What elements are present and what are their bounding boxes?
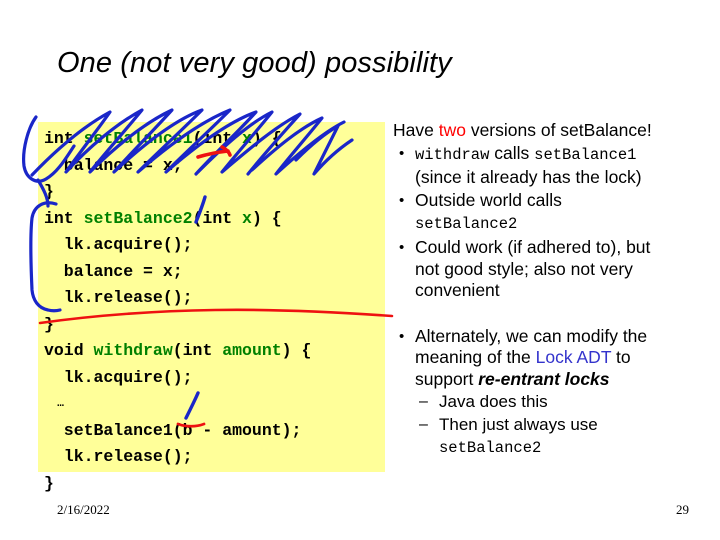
sub-bullet-body: Java does this	[439, 391, 711, 413]
code-line: lk.acquire();	[44, 365, 385, 392]
bullet-text-segment: Outside world calls	[415, 190, 562, 210]
code-block: int setBalance1(int x) { balance = x;}in…	[38, 122, 385, 472]
bullet-text-segment: Alternately, we can modify the	[415, 326, 647, 346]
bullet-text-segment: setBalance2	[415, 215, 517, 233]
code-text: }	[44, 182, 54, 201]
bullet-text-segment: Could work (if adhered to), but	[415, 237, 650, 257]
bullet-text-line: (since it already has the lock)	[415, 167, 711, 189]
bullet-body: Could work (if adhered to), butnot good …	[415, 237, 711, 302]
lead-statement: Have two versions of setBalance!	[393, 120, 711, 141]
code-text: int	[44, 209, 84, 228]
sub-list-item: –Then just always usesetBalance2	[393, 414, 711, 459]
bullet-text-line: meaning of the Lock ADT to	[415, 347, 711, 369]
code-line: setBalance1(b - amount);	[44, 418, 385, 445]
bullet-text-line: Then just always use	[439, 414, 711, 436]
code-text: balance = x;	[44, 156, 183, 175]
code-line: lk.release();	[44, 444, 385, 471]
code-identifier: amount	[222, 341, 281, 360]
code-line: balance = x;	[44, 259, 385, 286]
code-text: …	[44, 398, 64, 410]
bullet-text-segment: convenient	[415, 280, 500, 300]
bullet-text-line: Could work (if adhered to), but	[415, 237, 711, 259]
list-item: •Outside world callssetBalance2	[393, 190, 711, 235]
code-text: lk.release();	[44, 288, 193, 307]
bullet-marker-icon: •	[393, 143, 415, 165]
code-identifier: x	[242, 129, 252, 148]
bullet-text-segment: Then just always use	[439, 415, 598, 434]
bullet-marker-icon: •	[393, 237, 415, 259]
bullet-text-segment: support	[415, 369, 478, 389]
sub-bullet-marker-icon: –	[419, 391, 439, 413]
code-text: (int	[173, 341, 223, 360]
bullet-text-segment: calls	[489, 143, 534, 163]
bullet-text-segment: setBalance1	[534, 146, 636, 164]
sub-list-item: –Java does this	[393, 391, 711, 413]
slide-canvas: One (not very good) possibility int setB…	[0, 0, 720, 540]
bullet-text-segment: re-entrant locks	[478, 369, 609, 389]
list-item: •Alternately, we can modify themeaning o…	[393, 326, 711, 391]
bullet-text-line: not good style; also not very	[415, 259, 711, 281]
bullet-text-segment: (since it already has the lock)	[415, 167, 642, 187]
code-line: lk.acquire();	[44, 232, 385, 259]
sub-bullet-body: Then just always usesetBalance2	[439, 414, 711, 459]
bullet-body: withdraw calls setBalance1(since it alre…	[415, 143, 711, 188]
bullet-text-segment: not good style; also not very	[415, 259, 633, 279]
bullet-text-segment: Lock ADT	[536, 347, 612, 367]
code-text: }	[44, 474, 54, 493]
code-line: }	[44, 312, 385, 339]
code-line: int setBalance2(int x) {	[44, 206, 385, 233]
code-text: int	[44, 129, 84, 148]
code-text: ) {	[252, 209, 282, 228]
code-line: int setBalance1(int x) {	[44, 126, 385, 153]
code-line: }	[44, 471, 385, 498]
bullet-text-segment: meaning of the	[415, 347, 536, 367]
bullet-text-line: convenient	[415, 280, 711, 302]
bullet-body: Outside world callssetBalance2	[415, 190, 711, 235]
bullet-column: Have two versions of setBalance! •withdr…	[393, 120, 711, 459]
bullet-spacer	[393, 302, 711, 324]
list-item: •withdraw calls setBalance1(since it alr…	[393, 143, 711, 188]
code-text: ) {	[252, 129, 282, 148]
code-text: lk.acquire();	[44, 235, 193, 254]
bullet-body: Alternately, we can modify themeaning of…	[415, 326, 711, 391]
bullet-list: •withdraw calls setBalance1(since it alr…	[393, 143, 711, 459]
code-line: }	[44, 179, 385, 206]
bullet-text-line: setBalance2	[439, 436, 711, 460]
list-item: •Could work (if adhered to), butnot good…	[393, 237, 711, 302]
code-text: void	[44, 341, 94, 360]
code-line: lk.release();	[44, 285, 385, 312]
bullet-text-line: withdraw calls setBalance1	[415, 143, 711, 167]
code-text: setBalance1(b - amount);	[44, 421, 301, 440]
bullet-text-line: setBalance2	[415, 212, 711, 236]
sub-bullet-marker-icon: –	[419, 414, 439, 436]
footer-page-number: 29	[676, 502, 689, 518]
bullet-text-line: Java does this	[439, 391, 711, 413]
bullet-text-segment: to	[611, 347, 630, 367]
code-text: balance = x;	[44, 262, 183, 281]
code-text: lk.release();	[44, 447, 193, 466]
bullet-text-line: Outside world calls	[415, 190, 711, 212]
lead-highlight: two	[439, 120, 466, 140]
bullet-marker-icon: •	[393, 326, 415, 348]
page-title: One (not very good) possibility	[57, 47, 657, 80]
code-identifier: setBalance2	[84, 209, 193, 228]
code-text: }	[44, 315, 54, 334]
bullet-text-segment: setBalance2	[439, 439, 541, 457]
code-line: balance = x;	[44, 153, 385, 180]
code-text: ) {	[282, 341, 312, 360]
lead-before: Have	[393, 120, 439, 140]
bullet-text-line: Alternately, we can modify the	[415, 326, 711, 348]
code-lines: int setBalance1(int x) { balance = x;}in…	[44, 126, 385, 497]
code-text: (int	[193, 129, 243, 148]
code-text: lk.acquire();	[44, 368, 193, 387]
bullet-text-segment: withdraw	[415, 146, 489, 164]
code-identifier: x	[242, 209, 252, 228]
code-identifier: setBalance1	[84, 129, 193, 148]
lead-after: versions of setBalance!	[466, 120, 652, 140]
bullet-text-line: support re-entrant locks	[415, 369, 711, 391]
code-text: (int	[193, 209, 243, 228]
bullet-text-segment: Java does this	[439, 392, 548, 411]
code-line: void withdraw(int amount) {	[44, 338, 385, 365]
bullet-marker-icon: •	[393, 190, 415, 212]
code-identifier: withdraw	[94, 341, 173, 360]
footer-date: 2/16/2022	[57, 502, 110, 518]
code-line: …	[44, 391, 385, 418]
